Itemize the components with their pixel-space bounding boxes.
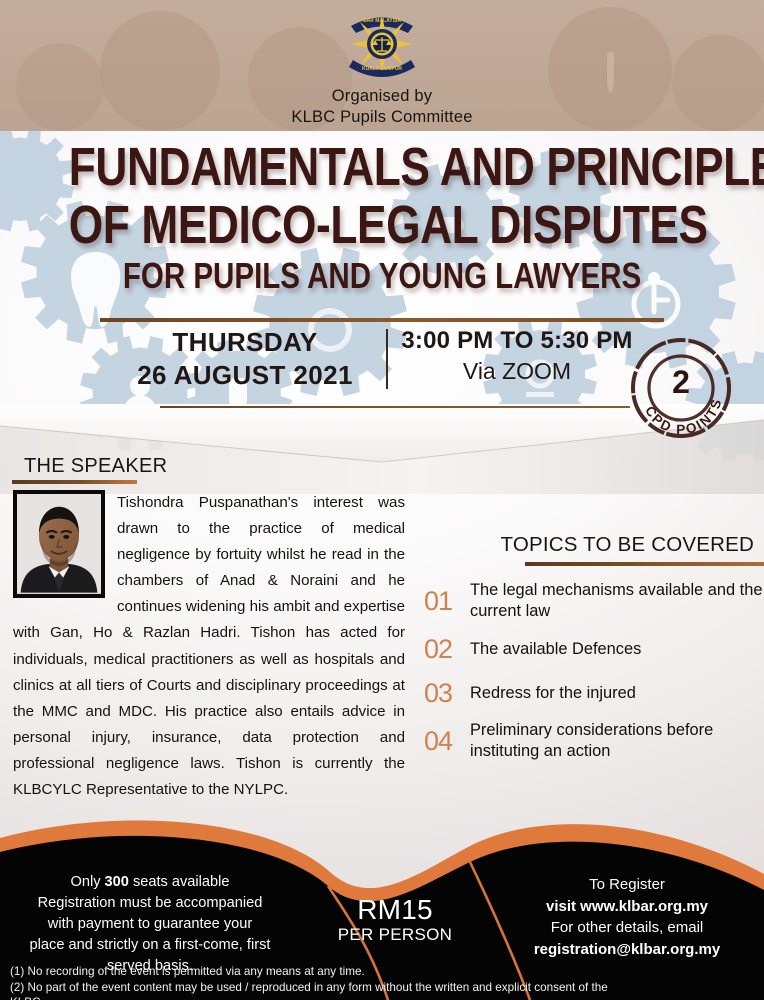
topic-text: The legal mechanisms available and the c… <box>470 580 764 622</box>
event-date: 26 AUGUST 2021 <box>120 360 370 391</box>
disclaimer-line-3: KLBC. <box>10 995 764 1000</box>
event-poster: BAR MALAYSIA KUALA LUMPUR Organised by K… <box>0 0 764 1000</box>
seats-line-3: with payment to guarantee your <box>0 914 300 935</box>
event-day: THURSDAY <box>120 327 370 358</box>
register-heading: To Register <box>490 874 764 896</box>
speaker-heading: THE SPEAKER <box>24 455 167 478</box>
seats-line-2: Registration must be accompanied <box>0 893 300 914</box>
register-website[interactable]: visit www.klbar.org.my <box>490 896 764 918</box>
event-time-block: 3:00 PM TO 5:30 PM Via ZOOM <box>392 327 642 385</box>
title-subtitle: FOR PUPILS AND YOUNG LAWYERS <box>69 258 695 294</box>
topic-number: 02 <box>424 636 470 663</box>
topic-text: Preliminary considerations before instit… <box>470 720 764 762</box>
topic-item: 03 Redress for the injured <box>424 676 764 710</box>
footer-content: Only 300 seats available Registration mu… <box>0 812 764 1000</box>
disclaimer-notes: (1) No recording of the event is permitt… <box>10 964 764 1000</box>
seats-count: 300 <box>105 874 129 890</box>
seats-line-1: Only 300 seats available <box>0 872 300 893</box>
topic-item: 02 The available Defences <box>424 632 764 666</box>
cpd-points-value: 2 <box>625 336 737 440</box>
svg-text:BAR MALAYSIA: BAR MALAYSIA <box>363 18 401 24</box>
topic-item: 04 Preliminary considerations before ins… <box>424 720 764 762</box>
organised-by-label: Organised by <box>0 87 764 106</box>
title-divider-bottom <box>160 406 630 408</box>
poster-title-block: FUNDAMENTALS AND PRINCIPLES OF MEDICO-LE… <box>0 140 764 294</box>
topic-number: 04 <box>424 728 470 755</box>
event-time: 3:00 PM TO 5:30 PM <box>392 327 642 355</box>
disclaimer-line-2: (2) No part of the event content may be … <box>10 980 764 996</box>
speaker-heading-underline <box>12 480 137 484</box>
topic-number: 01 <box>424 588 470 615</box>
event-date-block: THURSDAY 26 AUGUST 2021 <box>120 327 370 391</box>
bio-photo-spacer <box>13 490 117 602</box>
svg-text:KUALA LUMPUR: KUALA LUMPUR <box>362 66 402 72</box>
register-email-label: For other details, email <box>490 917 764 939</box>
register-email[interactable]: registration@klbar.org.my <box>490 939 764 961</box>
event-platform: Via ZOOM <box>392 358 642 385</box>
title-line-2: OF MEDICO-LEGAL DISPUTES <box>69 198 695 252</box>
topic-text: The available Defences <box>470 639 641 660</box>
disclaimer-line-1: (1) No recording of the event is permitt… <box>10 964 764 980</box>
organiser-name: KLBC Pupils Committee <box>0 108 764 127</box>
topics-heading: TOPICS TO BE COVERED <box>409 533 754 557</box>
registration-block: To Register visit www.klbar.org.my For o… <box>490 874 764 960</box>
topic-item: 01 The legal mechanisms available and th… <box>424 580 764 622</box>
speaker-bio: Tishondra Puspanathan's interest was dra… <box>13 490 405 803</box>
seats-notice: Only 300 seats available Registration mu… <box>0 872 300 977</box>
topics-heading-underline <box>525 562 764 566</box>
topic-text: Redress for the injured <box>470 683 636 704</box>
price-amount: RM15 <box>320 894 470 926</box>
price-per-person: PER PERSON <box>320 925 470 945</box>
cpd-points-stamp-icon: CPD POINTS 2 <box>625 336 737 440</box>
price-block: RM15 PER PERSON <box>320 894 470 945</box>
title-line-1: FUNDAMENTALS AND PRINCIPLES <box>69 140 695 194</box>
topic-number: 03 <box>424 680 470 707</box>
topics-list: 01 The legal mechanisms available and th… <box>424 580 764 772</box>
event-details-divider <box>386 329 388 389</box>
title-divider-top <box>100 318 664 322</box>
klbc-crest-logo: BAR MALAYSIA KUALA LUMPUR <box>339 8 425 80</box>
seats-line-4: place and strictly on a first-come, firs… <box>0 935 300 956</box>
